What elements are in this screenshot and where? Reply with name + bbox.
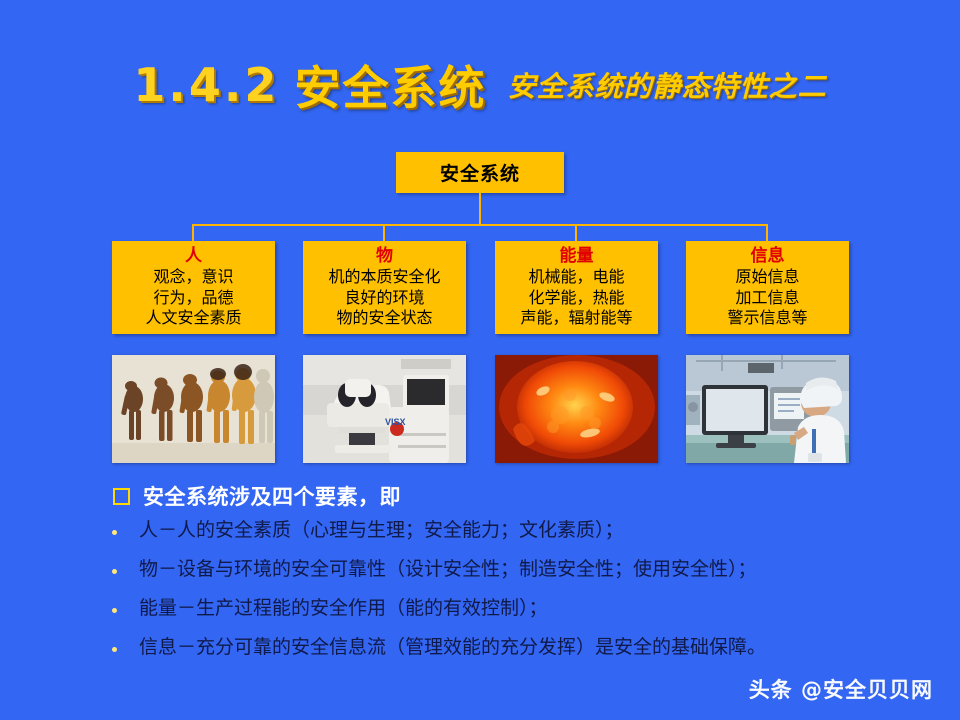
diagram-root-node: 安全系统 <box>396 152 564 193</box>
connector-drop-1 <box>192 224 194 241</box>
element-line: 加工信息 <box>735 288 799 308</box>
bullet-text: 能量－生产过程能的安全作用（能的有效控制）； <box>139 595 548 623</box>
element-line: 机械能，电能 <box>528 267 624 287</box>
element-line: 化学能，热能 <box>528 288 624 308</box>
page-title: 1.4.2 安全系统 安全系统的静态特性之二 <box>0 52 960 118</box>
dot-bullet-icon <box>112 608 117 613</box>
body-lead-text: 安全系统涉及四个要素，即 <box>143 481 401 511</box>
slide-canvas: 1.4.2 安全系统 安全系统的静态特性之二 安全系统 人 观念，意识 行为，品… <box>0 0 960 720</box>
diagram-root-label: 安全系统 <box>440 159 520 186</box>
bullet-text: 人－人的安全素质（心理与生理；安全能力；文化素质）； <box>139 517 624 545</box>
element-box-person: 人 观念，意识 行为，品德 人文安全素质 <box>112 241 275 334</box>
control-operator-photo <box>686 355 849 463</box>
human-evolution-photo <box>112 355 275 463</box>
human-evolution-icon <box>112 355 275 463</box>
title-number: 1.4.2 <box>133 58 279 112</box>
element-line: 机的本质安全化 <box>328 267 440 287</box>
sun-icon <box>495 355 658 463</box>
bullet-text: 物－设备与环境的安全可靠性（设计安全性；制造安全性；使用安全性）； <box>139 556 757 584</box>
connector-drop-2 <box>383 224 385 241</box>
element-box-information: 信息 原始信息 加工信息 警示信息等 <box>686 241 849 334</box>
watermark: 头条 @安全贝贝网 <box>749 674 933 704</box>
element-heading: 信息 <box>751 247 785 267</box>
element-line: 原始信息 <box>735 267 799 287</box>
element-line: 物的安全状态 <box>336 308 432 328</box>
laboratory-equipment-photo: VISX <box>303 355 466 463</box>
connector-trunk-vertical <box>479 193 481 225</box>
list-item: 人－人的安全素质（心理与生理；安全能力；文化素质）； <box>112 517 912 556</box>
element-line: 良好的环境 <box>344 288 424 308</box>
connector-horizontal-bus <box>192 224 768 226</box>
sun-photo <box>495 355 658 463</box>
element-box-object: 物 机的本质安全化 良好的环境 物的安全状态 <box>303 241 466 334</box>
dot-bullet-icon <box>112 569 117 574</box>
element-line: 警示信息等 <box>727 308 807 328</box>
list-item: 信息－充分可靠的安全信息流（管理效能的充分发挥）是安全的基础保障。 <box>112 634 912 673</box>
connector-drop-4 <box>766 224 768 241</box>
title-main: 安全系统 <box>294 61 486 115</box>
element-line: 观念，意识 <box>153 267 233 287</box>
bullet-text: 信息－充分可靠的安全信息流（管理效能的充分发挥）是安全的基础保障。 <box>139 634 766 662</box>
body-lead-line: 安全系统涉及四个要素，即 <box>113 481 401 511</box>
body-bullet-list: 人－人的安全素质（心理与生理；安全能力；文化素质）； 物－设备与环境的安全可靠性… <box>112 517 912 673</box>
element-line: 行为，品德 <box>153 288 233 308</box>
element-heading: 能量 <box>560 247 594 267</box>
dot-bullet-icon <box>112 530 117 535</box>
dot-bullet-icon <box>112 647 117 652</box>
laboratory-equipment-icon: VISX <box>303 355 466 463</box>
element-line: 人文安全素质 <box>145 308 241 328</box>
title-subtitle: 安全系统的静态特性之二 <box>508 70 827 103</box>
svg-text:VISX: VISX <box>385 417 406 427</box>
connector-drop-3 <box>575 224 577 241</box>
element-heading: 人 <box>185 247 202 267</box>
square-outline-bullet-icon <box>113 488 130 505</box>
element-box-energy: 能量 机械能，电能 化学能，热能 声能，辐射能等 <box>495 241 658 334</box>
element-line: 声能，辐射能等 <box>520 308 632 328</box>
control-operator-icon <box>686 355 849 463</box>
list-item: 物－设备与环境的安全可靠性（设计安全性；制造安全性；使用安全性）； <box>112 556 912 595</box>
list-item: 能量－生产过程能的安全作用（能的有效控制）； <box>112 595 912 634</box>
element-heading: 物 <box>376 247 393 267</box>
